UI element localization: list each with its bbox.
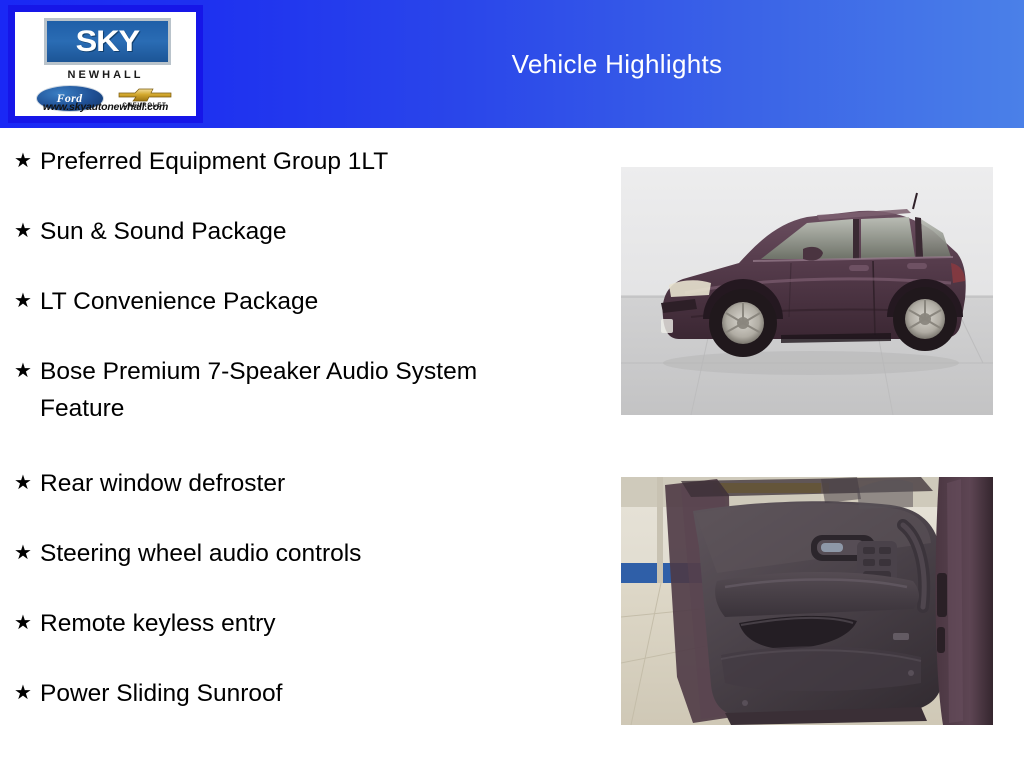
highlight-text: LT Convenience Package: [40, 283, 318, 320]
dealer-location-text: NEWHALL: [18, 69, 193, 81]
star-bullet-icon: ★: [10, 353, 40, 390]
list-item: ★ Preferred Equipment Group 1LT: [10, 143, 570, 180]
highlight-text: Remote keyless entry: [40, 605, 276, 642]
sky-brand-text: SKY: [76, 27, 139, 57]
list-item: ★ Steering wheel audio controls: [10, 535, 570, 572]
highlight-text: Sun & Sound Package: [40, 213, 287, 250]
highlight-text: Power Sliding Sunroof: [40, 675, 282, 712]
star-bullet-icon: ★: [10, 535, 40, 572]
dealer-logo[interactable]: SKY NEWHALL Ford: [8, 5, 203, 123]
list-item: ★ Bose Premium 7-Speaker Audio System Fe…: [10, 353, 570, 427]
highlight-text: Steering wheel audio controls: [40, 535, 361, 572]
vehicle-door-panel-photo[interactable]: [621, 477, 993, 725]
page-title: Vehicle Highlights: [210, 0, 1024, 128]
star-bullet-icon: ★: [10, 465, 40, 502]
vehicle-highlights-list: ★ Preferred Equipment Group 1LT ★ Sun & …: [10, 143, 570, 745]
list-item: ★ Remote keyless entry: [10, 605, 570, 642]
list-item: ★ Power Sliding Sunroof: [10, 675, 570, 712]
vehicle-exterior-photo[interactable]: [621, 167, 993, 415]
list-item: ★ Sun & Sound Package: [10, 213, 570, 250]
sky-brand-badge: SKY: [44, 18, 171, 65]
star-bullet-icon: ★: [10, 283, 40, 320]
star-bullet-icon: ★: [10, 143, 40, 180]
star-bullet-icon: ★: [10, 675, 40, 712]
highlight-text: Rear window defroster: [40, 465, 285, 502]
highlight-text: Bose Premium 7-Speaker Audio System Feat…: [40, 353, 480, 427]
dealer-logo-inner: SKY NEWHALL Ford: [18, 14, 193, 114]
star-bullet-icon: ★: [10, 605, 40, 642]
star-bullet-icon: ★: [10, 213, 40, 250]
list-item: ★ Rear window defroster: [10, 465, 570, 502]
dealer-website-url[interactable]: www.skyautonewhall.com: [18, 101, 193, 113]
highlight-text: Preferred Equipment Group 1LT: [40, 143, 388, 180]
list-item: ★ LT Convenience Package: [10, 283, 570, 320]
